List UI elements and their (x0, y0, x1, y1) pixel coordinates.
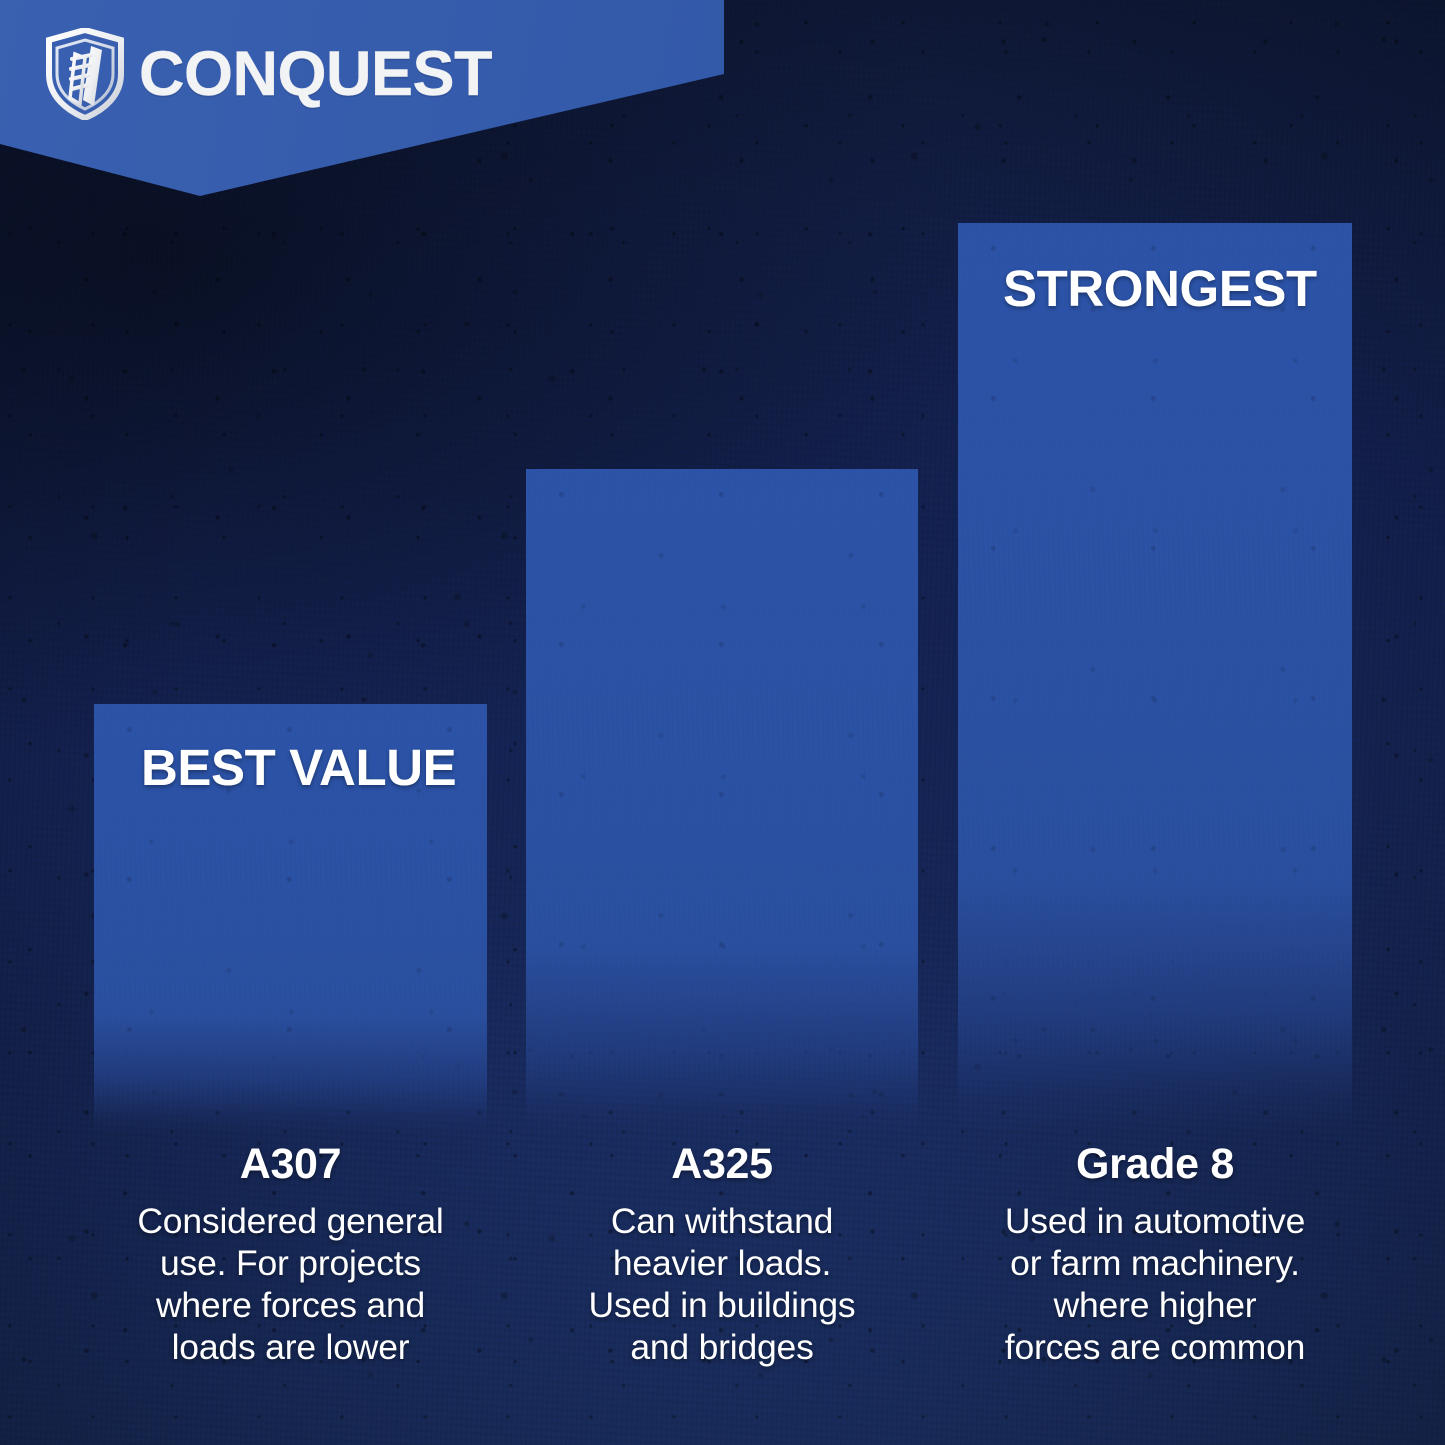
caption-grade-8: Grade 8 Used in automotive or farm machi… (958, 1142, 1352, 1369)
desc-line: use. For projects (94, 1243, 487, 1285)
desc-line: Used in automotive (958, 1201, 1352, 1243)
desc-line: where higher (958, 1285, 1352, 1327)
desc-line: heavier loads. (526, 1243, 918, 1285)
desc-line: Considered general (94, 1201, 487, 1243)
desc-line: Used in buildings (526, 1285, 918, 1327)
bar-texture (526, 469, 918, 1134)
bar-label-a325: A325 (526, 1142, 918, 1187)
bar-chart: BEST VALUE A307 Considered general use. … (0, 0, 1445, 1445)
caption-a307: A307 Considered general use. For project… (94, 1142, 487, 1369)
desc-line: or farm machinery. (958, 1243, 1352, 1285)
bar-description-a307: Considered general use. For projects whe… (94, 1201, 487, 1369)
desc-line: Can withstand (526, 1201, 918, 1243)
desc-line: forces are common (958, 1327, 1352, 1369)
bar-label-grade-8: Grade 8 (958, 1142, 1352, 1187)
bar-texture (958, 223, 1352, 1134)
badge-best-value: BEST VALUE (141, 742, 456, 793)
desc-line: and bridges (526, 1327, 918, 1369)
bar-description-grade-8: Used in automotive or farm machinery. wh… (958, 1201, 1352, 1369)
bar-a325[interactable] (526, 469, 918, 1134)
caption-a325: A325 Can withstand heavier loads. Used i… (526, 1142, 918, 1369)
infographic-canvas: CONQUEST BEST VALUE A307 Considered gene… (0, 0, 1445, 1445)
bar-label-a307: A307 (94, 1142, 487, 1187)
bar-grade-8[interactable] (958, 223, 1352, 1134)
badge-strongest: STRONGEST (1003, 263, 1317, 314)
desc-line: loads are lower (94, 1327, 487, 1369)
bar-description-a325: Can withstand heavier loads. Used in bui… (526, 1201, 918, 1369)
desc-line: where forces and (94, 1285, 487, 1327)
